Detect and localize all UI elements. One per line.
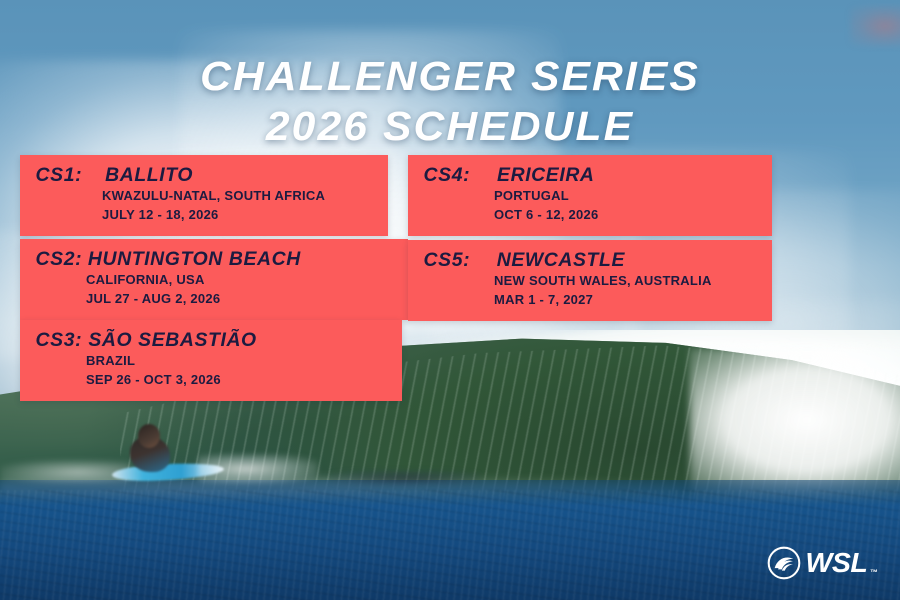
- challenger-series-schedule-poster: CHALLENGER SERIES 2026 SCHEDULE CS1: BAL…: [0, 0, 900, 600]
- event-location: CALIFORNIA, USA: [86, 271, 394, 290]
- event-name: HUNTINGTON BEACH: [88, 249, 301, 271]
- event-name: SÃO SEBASTIÃO: [88, 330, 256, 352]
- event-dates: MAR 1 - 7, 2027: [494, 291, 758, 310]
- card-heading: CS4: ERICEIRA: [424, 165, 758, 187]
- event-code: CS4:: [424, 165, 471, 187]
- event-dates: SEP 26 - OCT 3, 2026: [86, 371, 388, 390]
- event-dates: OCT 6 - 12, 2026: [494, 206, 758, 225]
- card-heading: CS2: HUNTINGTON BEACH: [36, 249, 394, 271]
- event-location: PORTUGAL: [494, 187, 758, 206]
- wsl-wave-circle-icon: [767, 546, 801, 580]
- card-heading: CS5: NEWCASTLE: [424, 250, 758, 272]
- wsl-wordmark: WSL: [806, 549, 868, 577]
- event-code: CS5:: [424, 250, 471, 272]
- card-heading: CS1: BALLITO: [36, 165, 374, 187]
- schedule-card-cs5[interactable]: CS5: NEWCASTLE NEW SOUTH WALES, AUSTRALI…: [408, 240, 772, 321]
- schedule-card-cs1[interactable]: CS1: BALLITO KWAZULU-NATAL, SOUTH AFRICA…: [20, 155, 388, 236]
- event-dates: JULY 12 - 18, 2026: [102, 206, 374, 225]
- event-location: NEW SOUTH WALES, AUSTRALIA: [494, 272, 758, 291]
- event-location: BRAZIL: [86, 352, 388, 371]
- schedule-card-cs4[interactable]: CS4: ERICEIRA PORTUGAL OCT 6 - 12, 2026: [408, 155, 772, 236]
- event-code: CS3:: [36, 330, 83, 352]
- event-code: CS1:: [36, 165, 83, 187]
- event-dates: JUL 27 - AUG 2, 2026: [86, 290, 394, 309]
- event-code: CS2:: [36, 249, 83, 271]
- event-location: KWAZULU-NATAL, SOUTH AFRICA: [102, 187, 374, 206]
- event-name: ERICEIRA: [497, 165, 595, 187]
- card-heading: CS3: SÃO SEBASTIÃO: [36, 330, 388, 352]
- schedule-card-cs3[interactable]: CS3: SÃO SEBASTIÃO BRAZIL SEP 26 - OCT 3…: [20, 320, 402, 401]
- event-name: BALLITO: [105, 165, 193, 187]
- wsl-logo[interactable]: WSL ™: [767, 546, 878, 580]
- event-name: NEWCASTLE: [496, 250, 624, 272]
- schedule-list: CS1: BALLITO KWAZULU-NATAL, SOUTH AFRICA…: [0, 0, 900, 600]
- trademark-symbol: ™: [870, 568, 878, 577]
- schedule-card-cs2[interactable]: CS2: HUNTINGTON BEACH CALIFORNIA, USA JU…: [20, 239, 408, 320]
